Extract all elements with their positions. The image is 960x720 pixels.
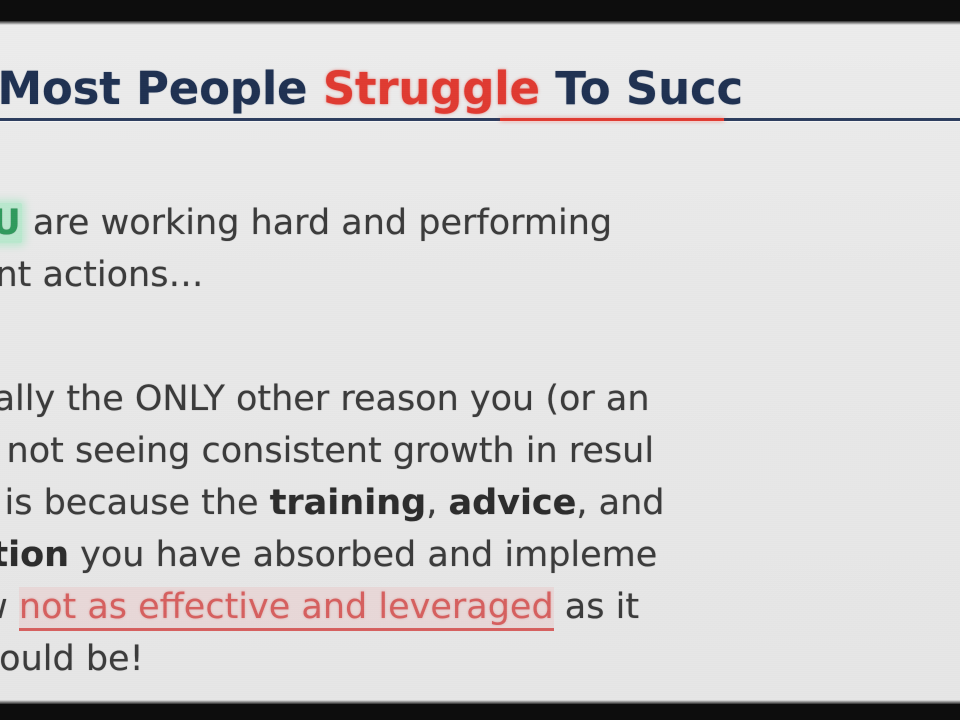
headline-underline-rule [0, 118, 960, 121]
letterbox-bar-top [0, 0, 960, 21]
video-frame: Do Most People Struggle To Succ f YOU ar… [0, 0, 960, 720]
paragraph-two-line-2: ) are not seeing consistent growth in re… [0, 425, 960, 477]
paragraph-one: f YOU are working hard and performing si… [0, 197, 960, 301]
underlined-phrase-not-effective: not as effective and leveraged [19, 587, 554, 631]
paragraph-two: n, really the ONLY other reason you (or … [0, 373, 960, 685]
paragraph-two-line-6: uld/could be! [0, 633, 960, 685]
paragraph-two-line-4: rmation you have absorbed and impleme [0, 529, 960, 581]
highlight-you: YOU [0, 203, 22, 243]
headline-text-part-2: To Succ [540, 62, 743, 115]
headline-underline-accent-segment [500, 118, 724, 121]
para2-line3-mid: , [426, 483, 448, 523]
para2-line4-post: you have absorbed and impleme [69, 535, 657, 575]
letterbox-fade-top [0, 21, 960, 25]
headline-text-part-1: Do Most People [0, 62, 323, 115]
headline-block: Do Most People Struggle To Succ [0, 65, 960, 121]
para2-line3-post: , and [576, 483, 664, 523]
headline-accent-word: Struggle [323, 62, 540, 115]
para1-line1-post: are working hard and performing [22, 203, 612, 243]
paragraph-one-line-1: f YOU are working hard and performing [0, 197, 960, 249]
para2-line5-pre: ehow [0, 587, 19, 627]
bold-training: training [270, 483, 427, 523]
paragraph-two-line-5: ehow not as effective and leveraged as i… [0, 581, 960, 633]
paragraph-one-line-2: sistent actions… [0, 249, 960, 301]
para2-line5-post: as it [554, 587, 639, 627]
page-title: Do Most People Struggle To Succ [0, 65, 960, 118]
slide-canvas: Do Most People Struggle To Succ f YOU ar… [0, 21, 960, 704]
letterbox-bar-bottom [0, 704, 960, 720]
bold-information: rmation [0, 535, 69, 575]
para2-line3-pre: me - is because the [0, 483, 270, 523]
bold-advice: advice [448, 483, 576, 523]
paragraph-two-line-3: me - is because the training, advice, an… [0, 477, 960, 529]
paragraph-two-line-1: n, really the ONLY other reason you (or … [0, 373, 960, 425]
